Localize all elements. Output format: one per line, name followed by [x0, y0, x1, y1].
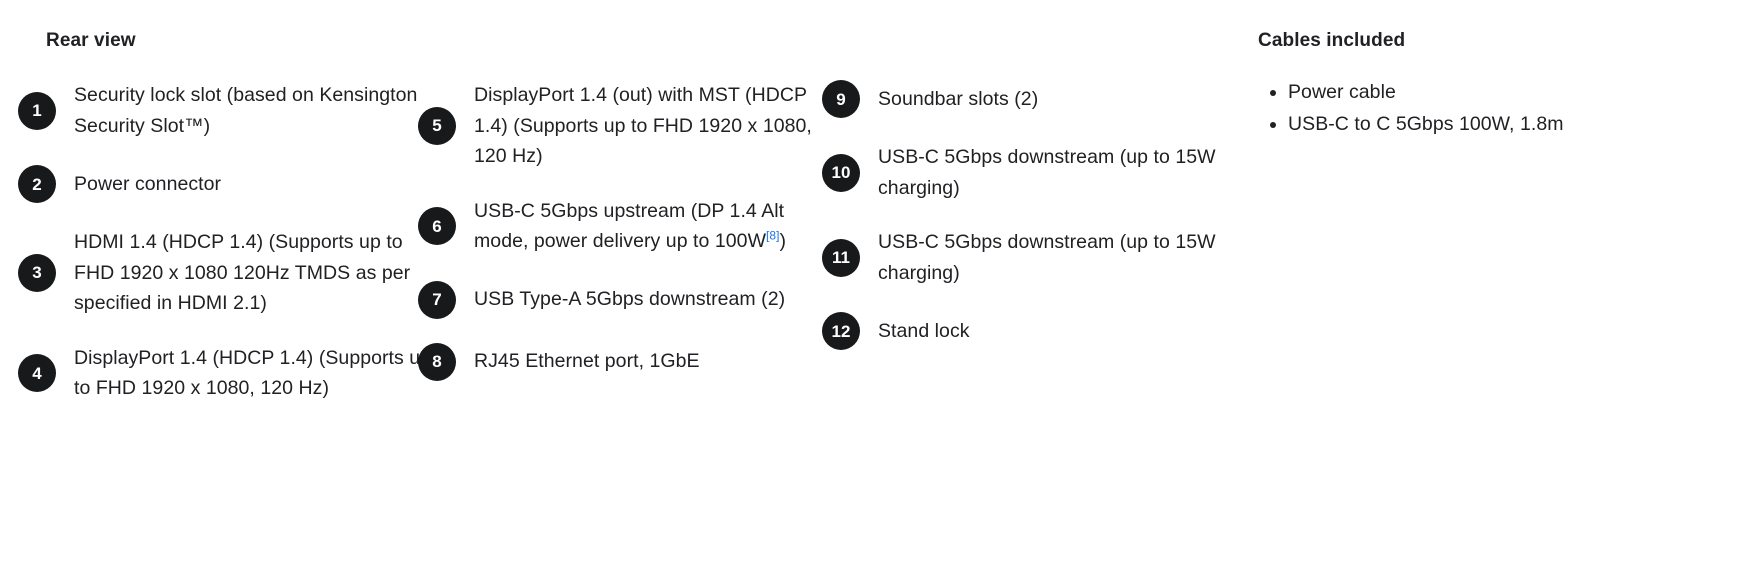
- port-number-badge-6: 6: [418, 207, 456, 245]
- port-number-badge-11: 11: [822, 239, 860, 277]
- port-number-badge-2: 2: [18, 165, 56, 203]
- port-number-badge-1: 1: [18, 92, 56, 130]
- port-label-1: Security lock slot (based on Kensington …: [74, 80, 438, 141]
- port-number-badge-5: 5: [418, 107, 456, 145]
- ports-column-2: 5 DisplayPort 1.4 (out) with MST (HDCP 1…: [418, 80, 838, 381]
- port-number-badge-7: 7: [418, 281, 456, 319]
- cable-list-item: Power cable: [1288, 76, 1741, 108]
- port-item-10: 10 USB-C 5Gbps downstream (up to 15W cha…: [822, 142, 1242, 203]
- port-label-5: DisplayPort 1.4 (out) with MST (HDCP 1.4…: [474, 80, 838, 172]
- port-item-12: 12 Stand lock: [822, 312, 1242, 350]
- port-item-11: 11 USB-C 5Gbps downstream (up to 15W cha…: [822, 227, 1242, 288]
- footnote-reference-8[interactable]: [8]: [766, 229, 780, 243]
- port-number-badge-10: 10: [822, 154, 860, 192]
- port-number-badge-9: 9: [822, 80, 860, 118]
- port-item-7: 7 USB Type-A 5Gbps downstream (2): [418, 281, 838, 319]
- port-item-8: 8 RJ45 Ethernet port, 1GbE: [418, 343, 838, 381]
- port-label-2: Power connector: [74, 169, 221, 200]
- port-label-6: USB-C 5Gbps upstream (DP 1.4 Alt mode, p…: [474, 196, 838, 257]
- port-label-8: RJ45 Ethernet port, 1GbE: [474, 346, 700, 377]
- port-item-5: 5 DisplayPort 1.4 (out) with MST (HDCP 1…: [418, 80, 838, 172]
- port-label-10: USB-C 5Gbps downstream (up to 15W chargi…: [878, 142, 1242, 203]
- cables-included-heading: Cables included: [1258, 30, 1405, 52]
- port-item-1: 1 Security lock slot (based on Kensingto…: [18, 80, 438, 141]
- port-number-badge-8: 8: [418, 343, 456, 381]
- port-label-4: DisplayPort 1.4 (HDCP 1.4) (Supports up …: [74, 343, 438, 404]
- port-label-7: USB Type-A 5Gbps downstream (2): [474, 284, 785, 315]
- port-item-9: 9 Soundbar slots (2): [822, 80, 1242, 118]
- ports-column-1: 1 Security lock slot (based on Kensingto…: [18, 80, 438, 404]
- port-number-badge-12: 12: [822, 312, 860, 350]
- port-number-badge-4: 4: [18, 354, 56, 392]
- cable-list-item: USB-C to C 5Gbps 100W, 1.8m: [1288, 108, 1741, 140]
- port-item-4: 4 DisplayPort 1.4 (HDCP 1.4) (Supports u…: [18, 343, 438, 404]
- spec-diagram-legend: Rear view Cables included 1 Security loc…: [0, 0, 1741, 561]
- port-label-12: Stand lock: [878, 316, 970, 347]
- port-number-badge-3: 3: [18, 254, 56, 292]
- port-item-6: 6 USB-C 5Gbps upstream (DP 1.4 Alt mode,…: [418, 196, 838, 257]
- port-label-9: Soundbar slots (2): [878, 84, 1038, 115]
- port-item-3: 3 HDMI 1.4 (HDCP 1.4) (Supports up to FH…: [18, 227, 438, 319]
- rear-view-heading: Rear view: [46, 30, 136, 52]
- cables-included-list: Power cable USB-C to C 5Gbps 100W, 1.8m: [1258, 76, 1741, 140]
- port-label-6-tail: ): [780, 230, 787, 252]
- port-label-3: HDMI 1.4 (HDCP 1.4) (Supports up to FHD …: [74, 227, 438, 319]
- port-label-11: USB-C 5Gbps downstream (up to 15W chargi…: [878, 227, 1242, 288]
- port-item-2: 2 Power connector: [18, 165, 438, 203]
- port-label-6-text: USB-C 5Gbps upstream (DP 1.4 Alt mode, p…: [474, 200, 784, 253]
- ports-column-3: 9 Soundbar slots (2) 10 USB-C 5Gbps down…: [822, 80, 1242, 350]
